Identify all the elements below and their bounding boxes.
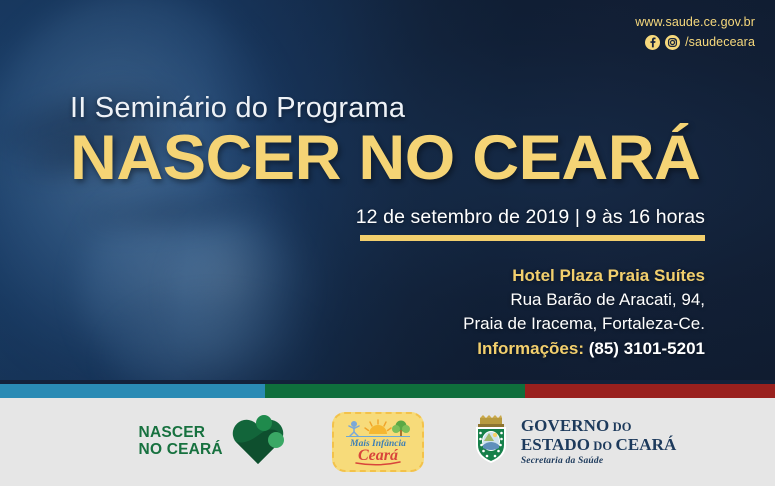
footer-bar: NASCER NO CEARÁ xyxy=(0,398,775,486)
logo-nascer-line-2: NO CEARÁ xyxy=(139,442,223,459)
logo-nascer-line-1: NASCER xyxy=(139,425,223,442)
contact-label: Informações: xyxy=(477,339,584,358)
venue-name: Hotel Plaza Praia Suítes xyxy=(463,264,705,288)
stripe-segment-blue xyxy=(0,384,265,398)
venue-address-line-2: Praia de Iracema, Fortaleza-Ce. xyxy=(463,312,705,336)
facebook-icon[interactable] xyxy=(645,35,660,50)
contact-info: Informações: (85) 3101-5201 xyxy=(463,337,705,361)
event-datetime-block: 12 de setembro de 2019 | 9 às 16 horas xyxy=(356,206,705,241)
venue-address-line-1: Rua Barão de Aracati, 94, xyxy=(463,288,705,312)
gold-rule-divider xyxy=(360,235,705,241)
governo-line-2-small: DO xyxy=(590,439,615,453)
logo-mais-infancia-ceara: Mais Infância Ceará xyxy=(332,412,424,472)
mais-infancia-artwork: Mais Infância Ceará xyxy=(338,417,418,467)
mais-infancia-line-2: Ceará xyxy=(358,447,399,464)
logo-nascer-no-ceara: NASCER NO CEARÁ xyxy=(139,414,286,471)
social-handle[interactable]: /saudeceara xyxy=(685,34,755,51)
social-row: /saudeceara xyxy=(635,34,755,51)
ceara-coat-of-arms-icon xyxy=(470,415,512,470)
event-banner: www.saude.ce.gov.br /saudeceara II Semin… xyxy=(0,0,775,486)
contact-phone: (85) 3101-5201 xyxy=(589,339,705,358)
event-kicker: II Seminário do Programa xyxy=(70,92,405,125)
governo-line-2-main: ESTADO xyxy=(521,435,590,454)
website-url[interactable]: www.saude.ce.gov.br xyxy=(635,14,755,31)
stripe-segment-green xyxy=(265,384,525,398)
venue-block: Hotel Plaza Praia Suítes Rua Barão de Ar… xyxy=(463,264,705,362)
logo-nascer-label: NASCER NO CEARÁ xyxy=(139,425,223,458)
event-title: NASCER NO CEARÁ xyxy=(70,127,700,190)
governo-line-3: Secretaria da Saúde xyxy=(521,456,677,466)
logo-governo-do-estado: GOVERNO DO ESTADO DO CEARÁ Secretaria da… xyxy=(470,415,677,470)
event-datetime: 12 de setembro de 2019 | 9 às 16 horas xyxy=(356,206,705,229)
governo-line-2: ESTADO DO CEARÁ xyxy=(521,436,677,454)
stripe-segment-red xyxy=(525,384,775,398)
governo-line-1-main: GOVERNO xyxy=(521,416,610,435)
instagram-icon[interactable] xyxy=(665,35,680,50)
top-links: www.saude.ce.gov.br /saudeceara xyxy=(635,14,755,51)
color-stripe xyxy=(0,384,775,398)
logo-row: NASCER NO CEARÁ xyxy=(0,398,775,486)
governo-line-1-small: DO xyxy=(609,420,631,434)
governo-line-2-main2: CEARÁ xyxy=(615,435,676,454)
governo-line-1: GOVERNO DO xyxy=(521,416,632,435)
heart-figures-icon xyxy=(230,414,286,471)
governo-wordmark: GOVERNO DO ESTADO DO CEARÁ Secretaria da… xyxy=(521,417,677,466)
